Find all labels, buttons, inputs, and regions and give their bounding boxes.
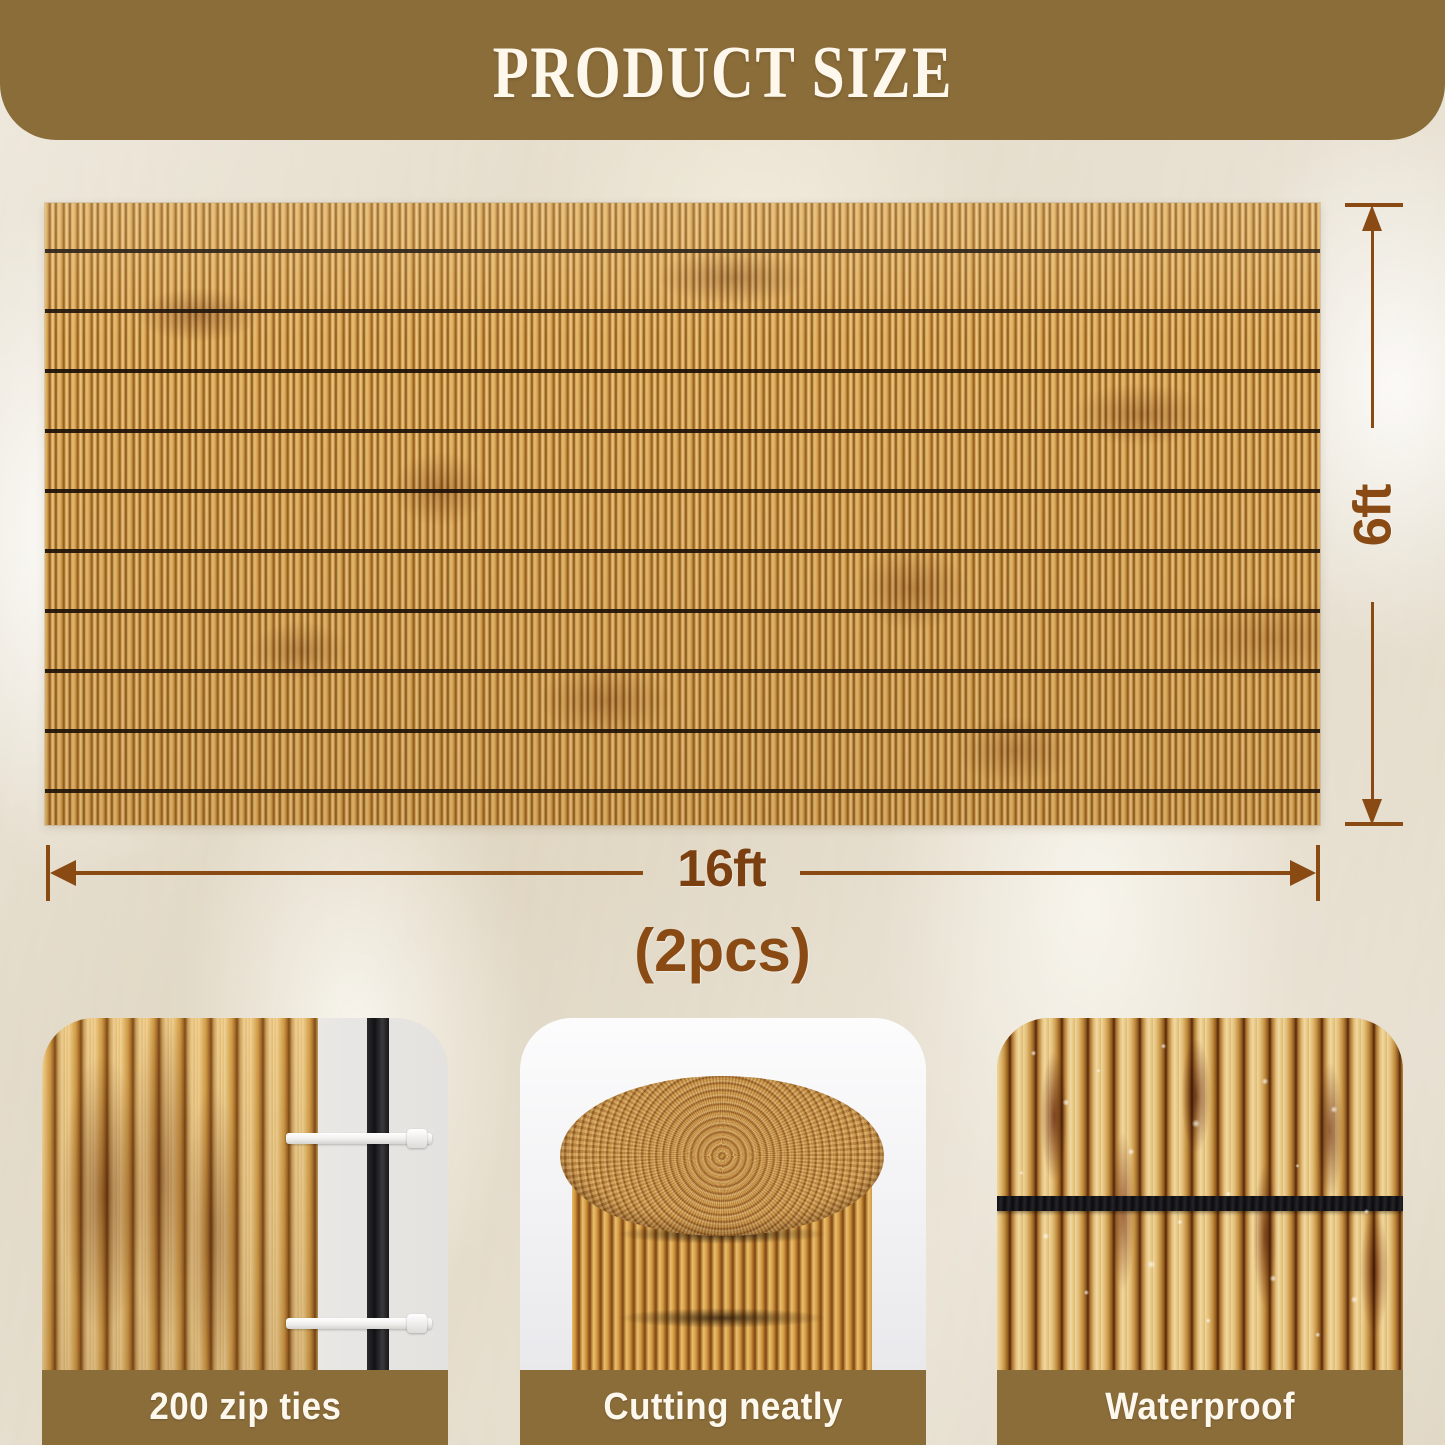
feature-image-waterproof	[997, 1018, 1403, 1370]
quantity-label: (2pcs)	[0, 916, 1445, 985]
fence-sheen	[45, 203, 1320, 825]
feature-caption-bar-zip-ties: 200 zip ties	[42, 1370, 448, 1445]
product-size-infographic: PRODUCT SIZE 6ft 16ft (2pcs)	[0, 0, 1445, 1445]
width-label: 16ft	[643, 839, 800, 899]
feature-card-zip-ties: 200 zip ties	[42, 1018, 448, 1445]
feature-card-waterproof: Waterproof	[997, 1018, 1403, 1445]
zip-ties-reed-shading	[42, 1018, 318, 1370]
arrow-down-icon	[1362, 799, 1382, 825]
feature-caption-waterproof: Waterproof	[1105, 1386, 1295, 1429]
zip-tie-head-upper	[407, 1129, 427, 1148]
feature-card-cutting-neatly: Cutting neatly	[520, 1018, 926, 1445]
width-arrow-stem-left	[68, 871, 643, 875]
feature-image-cutting-neatly	[520, 1018, 926, 1370]
height-arrow-stem-top	[1371, 223, 1374, 428]
zip-tie-head-lower	[407, 1314, 427, 1333]
feature-caption-bar-cutting-neatly: Cutting neatly	[520, 1370, 926, 1445]
feature-caption-bar-waterproof: Waterproof	[997, 1370, 1403, 1445]
feature-caption-zip-ties: 200 zip ties	[149, 1386, 341, 1429]
feature-image-zip-ties	[42, 1018, 448, 1370]
reed-roll-cut-ends-texture	[560, 1076, 884, 1236]
height-label: 6ft	[1343, 484, 1404, 546]
width-arrow-stem-right	[800, 871, 1295, 875]
header-banner: PRODUCT SIZE	[0, 0, 1445, 140]
height-arrow-stem-bottom	[1371, 602, 1374, 807]
page-title: PRODUCT SIZE	[492, 36, 953, 110]
arrow-right-icon	[1290, 860, 1316, 886]
height-label-wrap: 6ft	[1338, 470, 1408, 560]
water-droplets	[997, 1018, 1403, 1370]
width-tick-right	[1316, 845, 1320, 901]
main-product-image	[45, 203, 1320, 825]
feature-caption-cutting-neatly: Cutting neatly	[603, 1386, 843, 1429]
